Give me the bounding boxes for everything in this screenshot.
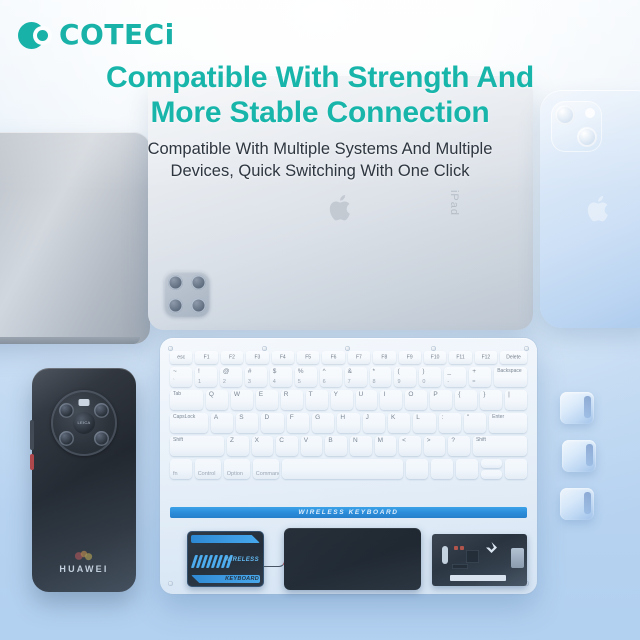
- key-bracket-left[interactable]: {: [455, 390, 477, 410]
- apple-logo-icon: [586, 194, 612, 225]
- headline-line-2: More Stable Connection: [70, 95, 570, 130]
- product-banner: COTECi iPad Compatible With Strength And…: [0, 0, 640, 640]
- ice-cube: [562, 440, 596, 472]
- key-minus[interactable]: _-: [444, 367, 466, 387]
- key-w[interactable]: W: [231, 390, 253, 410]
- modifier-row[interactable]: fn Control Option Command: [170, 459, 527, 479]
- huawei-brand-text: HUAWEI: [32, 564, 136, 574]
- key-f1[interactable]: F1: [195, 351, 217, 364]
- key-control[interactable]: Control: [195, 459, 221, 479]
- key-arrow-up[interactable]: [481, 459, 503, 468]
- key-shift-right[interactable]: Shift: [473, 436, 527, 456]
- brand-logo: COTECi: [18, 20, 175, 50]
- ice-cube: [560, 392, 594, 424]
- key-f7[interactable]: F7: [348, 351, 370, 364]
- key-c[interactable]: C: [276, 436, 298, 456]
- key-brightness[interactable]: [406, 459, 428, 479]
- exposed-circuit-board: [432, 534, 527, 586]
- key-f10[interactable]: F10: [424, 351, 446, 364]
- key-delete[interactable]: Delete: [500, 351, 527, 364]
- key-shift-left[interactable]: Shift: [170, 436, 224, 456]
- key-language[interactable]: [431, 459, 453, 479]
- key-area[interactable]: esc F1 F2 F3 F4 F5 F6 F7 F8 F9 F10 F11 F…: [170, 351, 527, 482]
- function-row[interactable]: esc F1 F2 F3 F4 F5 F6 F7 F8 F9 F10 F11 F…: [170, 351, 527, 364]
- qwerty-row[interactable]: Tab Q W E R T Y U I O P { } |: [170, 390, 527, 410]
- key-d[interactable]: D: [261, 413, 283, 433]
- key-f5[interactable]: F5: [297, 351, 319, 364]
- key-f11[interactable]: F11: [449, 351, 471, 364]
- home-row[interactable]: CapsLock A S D F G H J K L : " Enter: [170, 413, 527, 433]
- key-s[interactable]: S: [236, 413, 258, 433]
- key-arrow-down[interactable]: [481, 470, 503, 479]
- key-f6[interactable]: F6: [322, 351, 344, 364]
- key-f2[interactable]: F2: [221, 351, 243, 364]
- key-i[interactable]: I: [380, 390, 402, 410]
- arrow-up-down-stack[interactable]: [481, 459, 503, 479]
- battery-wire: [264, 556, 285, 567]
- headline-line-1: Compatible With Strength And: [70, 60, 570, 95]
- key-option[interactable]: Option: [224, 459, 250, 479]
- key-l[interactable]: L: [413, 413, 435, 433]
- key-4[interactable]: $4: [270, 367, 292, 387]
- huawei-phone: LEICA HUAWEI: [32, 368, 136, 592]
- key-j[interactable]: J: [363, 413, 385, 433]
- key-e[interactable]: E: [256, 390, 278, 410]
- key-k[interactable]: K: [388, 413, 410, 433]
- coteci-circle-mark-icon: [18, 20, 52, 50]
- key-m[interactable]: M: [375, 436, 397, 456]
- key-f9[interactable]: F9: [399, 351, 421, 364]
- key-slash[interactable]: ?: [448, 436, 470, 456]
- key-f4[interactable]: F4: [272, 351, 294, 364]
- key-5[interactable]: %5: [295, 367, 317, 387]
- marketing-copy: Compatible With Strength And More Stable…: [0, 60, 640, 183]
- wireless-keyboard-label: WIRELESS KEYBOARD: [298, 509, 398, 516]
- key-space[interactable]: [282, 459, 404, 479]
- key-command[interactable]: Command: [253, 459, 279, 479]
- apple-logo-icon: [328, 192, 354, 223]
- key-o[interactable]: O: [405, 390, 427, 410]
- key-f3[interactable]: F3: [246, 351, 268, 364]
- key-comma[interactable]: <: [399, 436, 421, 456]
- key-x[interactable]: X: [252, 436, 274, 456]
- zxcv-row[interactable]: Shift Z X C V B N M < > ? Shift: [170, 436, 527, 456]
- key-h[interactable]: H: [337, 413, 359, 433]
- key-z[interactable]: Z: [227, 436, 249, 456]
- key-u[interactable]: U: [356, 390, 378, 410]
- key-arrow-left[interactable]: [456, 459, 478, 479]
- volume-button: [30, 420, 34, 450]
- circular-quad-camera-ring-icon: LEICA: [51, 390, 117, 456]
- subhead-line-1: Compatible With Multiple Systems And Mul…: [85, 139, 555, 161]
- key-2[interactable]: @2: [220, 367, 242, 387]
- key-7[interactable]: &7: [345, 367, 367, 387]
- subhead-line-2: Devices, Quick Switching With One Click: [85, 161, 555, 183]
- key-semicolon[interactable]: :: [439, 413, 461, 433]
- key-q[interactable]: Q: [206, 390, 228, 410]
- ipad-word-mark: iPad: [448, 190, 460, 216]
- quad-camera-module-icon: [164, 271, 210, 317]
- battery-label-top: WIRELESS: [224, 557, 259, 563]
- key-f8[interactable]: F8: [373, 351, 395, 364]
- key-quote[interactable]: ": [464, 413, 486, 433]
- key-y[interactable]: Y: [331, 390, 353, 410]
- key-backslash[interactable]: |: [505, 390, 527, 410]
- key-bracket-right[interactable]: }: [480, 390, 502, 410]
- wireless-keyboard-strip: WIRELESS KEYBOARD: [170, 507, 527, 518]
- flash-icon: [79, 399, 90, 406]
- key-1[interactable]: !1: [195, 367, 217, 387]
- key-3[interactable]: #3: [245, 367, 267, 387]
- key-f[interactable]: F: [287, 413, 309, 433]
- key-g[interactable]: G: [312, 413, 334, 433]
- key-arrow-right[interactable]: [505, 459, 527, 479]
- leica-lens-label: LEICA: [73, 412, 95, 434]
- wireless-keyboard[interactable]: esc F1 F2 F3 F4 F5 F6 F7 F8 F9 F10 F11 F…: [160, 338, 537, 594]
- ice-cube: [560, 488, 594, 520]
- key-b[interactable]: B: [325, 436, 347, 456]
- trackpad[interactable]: [284, 528, 421, 590]
- key-fn[interactable]: fn: [170, 459, 192, 479]
- battery-label-bottom: KEYBOARD: [225, 576, 259, 582]
- key-9[interactable]: (9: [394, 367, 416, 387]
- battery-module: WIRELESS KEYBOARD: [187, 531, 264, 587]
- huawei-flower-icon: [71, 550, 97, 562]
- key-v[interactable]: V: [301, 436, 323, 456]
- key-p[interactable]: P: [430, 390, 452, 410]
- key-6[interactable]: ^6: [320, 367, 342, 387]
- key-backtick[interactable]: ~`: [170, 367, 192, 387]
- key-tab[interactable]: Tab: [170, 390, 203, 410]
- usb-c-port-icon: [511, 548, 524, 568]
- power-button: [30, 454, 34, 470]
- page-title: Compatible With Strength And More Stable…: [70, 60, 570, 130]
- key-f12[interactable]: F12: [475, 351, 497, 364]
- key-8[interactable]: *8: [370, 367, 392, 387]
- key-n[interactable]: N: [350, 436, 372, 456]
- key-enter[interactable]: Enter: [489, 413, 527, 433]
- key-equals[interactable]: +=: [469, 367, 491, 387]
- number-row[interactable]: ~` !1 @2 #3 $4 %5 ^6 &7 *8 (9 )0 _- += B…: [170, 367, 527, 387]
- key-capslock[interactable]: CapsLock: [170, 413, 208, 433]
- page-subtitle: Compatible With Multiple Systems And Mul…: [85, 139, 555, 183]
- key-0[interactable]: )0: [419, 367, 441, 387]
- key-backspace[interactable]: Backspace: [494, 367, 527, 387]
- brand-name: COTECi: [59, 21, 175, 49]
- key-esc[interactable]: esc: [170, 351, 192, 364]
- key-t[interactable]: T: [306, 390, 328, 410]
- key-period[interactable]: >: [424, 436, 446, 456]
- key-a[interactable]: A: [211, 413, 233, 433]
- key-r[interactable]: R: [281, 390, 303, 410]
